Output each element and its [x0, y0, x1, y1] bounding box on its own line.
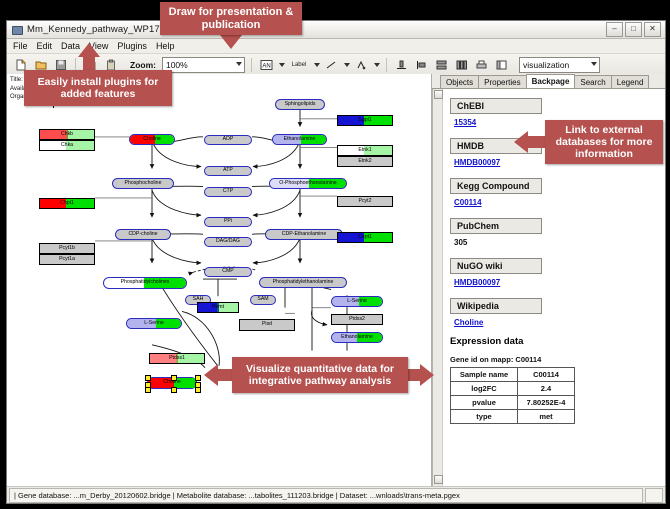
minimize-button[interactable]: – [606, 22, 623, 37]
node-label: Pcyt2 [359, 199, 372, 204]
metabolite-node-o-phosphoethanolamine[interactable]: O-Phosphoethanolamine [269, 178, 347, 189]
resize-handle[interactable] [171, 387, 177, 393]
gene-node-ptdss1[interactable]: Ptdss1 [149, 353, 205, 364]
menu-item-help[interactable]: Help [156, 41, 175, 51]
node-label: Chkb [61, 132, 73, 137]
label-dropdown-chevron-icon[interactable] [279, 63, 285, 67]
gene-node-chka[interactable]: Chka [39, 140, 95, 151]
metabolite-node-phosphocholine[interactable]: Phosphocholine [112, 178, 174, 189]
node-label: Phosphatidylethanolamine [273, 280, 334, 285]
tab-search[interactable]: Search [574, 75, 611, 88]
resize-handle[interactable] [195, 387, 201, 393]
gene-node-chpt1[interactable]: Chpt1 [39, 198, 95, 209]
node-label: Cept1 [358, 235, 372, 240]
node-label: CTP [223, 189, 233, 194]
metabolite-node-ctp[interactable]: CTP [204, 187, 252, 197]
db-link-nugo-wiki[interactable]: HMDB00097 [454, 278, 659, 287]
table-row: type met [451, 410, 575, 424]
expression-table: Sample name C00114 log2FC 2.4 pvalue 7.8… [450, 367, 575, 424]
cell-key: log2FC [451, 382, 518, 396]
visualization-value: visualization [523, 60, 569, 70]
scroll-down-button[interactable] [434, 475, 443, 484]
cell-key: Sample name [451, 368, 518, 382]
chevron-down-icon [236, 62, 242, 66]
menu-item-plugins[interactable]: Plugins [117, 41, 147, 51]
metabolite-node-l-serine[interactable]: L-Serine [331, 296, 383, 307]
zoom-label: Zoom: [130, 60, 156, 70]
pathvisio-icon [11, 24, 22, 35]
metabolite-node-sam[interactable]: SAM [250, 295, 276, 305]
window-controls[interactable]: – □ ✕ [606, 22, 661, 37]
node-label: Choline [143, 137, 161, 142]
status-resize-grip[interactable] [645, 488, 663, 503]
db-header-kegg-compound: Kegg Compound [450, 178, 542, 194]
node-label: Chka [61, 143, 73, 148]
gene-node-cept1[interactable]: Cept1 [337, 232, 393, 243]
metabolite-node-cdp-ethanolamine[interactable]: CDP-Ethanolamine [265, 229, 343, 240]
node-label: Pisd [262, 322, 272, 327]
gene-node-ptdss2[interactable]: Ptdss2 [331, 314, 383, 325]
scroll-up-button[interactable] [434, 90, 443, 99]
callout-links-arrow-icon [514, 131, 528, 153]
callout-visualize-arrow-right-icon [420, 364, 434, 386]
gene-node-chkb[interactable]: Chkb [39, 129, 95, 140]
db-value-pubchem: 305 [454, 238, 659, 247]
node-label: Ptdss2 [349, 317, 365, 322]
node-label: Pemt [212, 305, 224, 310]
shape-chevron-icon[interactable] [374, 63, 380, 67]
node-label: Ptdss1 [169, 356, 185, 361]
metabolite-node-cdp-choline[interactable]: CDP-choline [115, 229, 171, 240]
table-row: log2FC 2.4 [451, 382, 575, 396]
align-top-icon[interactable] [393, 56, 410, 73]
backpage-scrollbar[interactable] [433, 89, 443, 486]
status-bar: | Gene database: ...m_Derby_20120602.bri… [7, 486, 665, 503]
resize-handle[interactable] [195, 375, 201, 381]
metabolite-node-choline[interactable]: Choline [129, 134, 175, 145]
node-label: CMP [222, 269, 234, 274]
node-label: Choline [163, 380, 181, 385]
pathway-canvas[interactable]: Title: Availa Organi [7, 74, 432, 486]
cell-value: 7.80252E-4 [518, 396, 575, 410]
align-left-icon[interactable] [413, 56, 430, 73]
expression-data-heading: Expression data [450, 336, 659, 347]
visualization-chevron-down-icon [591, 62, 597, 66]
zoom-value: 100% [166, 60, 188, 70]
gene-node-pisd[interactable]: Pisd [239, 319, 295, 331]
node-label: Sgpl1 [358, 118, 371, 123]
cell-value: C00114 [518, 368, 575, 382]
metabolite-node-l-serine[interactable]: L-Serine [126, 318, 182, 329]
toolbar-separator-2 [251, 58, 252, 72]
db-header-wikipedia: Wikipedia [450, 298, 542, 314]
callout-draw: Draw for presentation & publication [160, 2, 302, 35]
label-tool[interactable]: Label [288, 56, 310, 73]
resize-handle[interactable] [145, 387, 151, 393]
node-label: L-Serine [347, 299, 367, 304]
side-panel-tabs[interactable]: Objects Properties Backpage Search Legen… [432, 74, 665, 89]
menu-item-edit[interactable]: Edit [37, 41, 53, 51]
gene-node-pcyt1a[interactable]: Pcyt1a [39, 254, 95, 265]
resize-handle[interactable] [171, 375, 177, 381]
callout-plugins: Easily install plugins for added feature… [24, 70, 172, 106]
visualization-combobox[interactable]: visualization [519, 57, 600, 73]
node-label: CDP-Ethanolamine [282, 232, 326, 237]
tab-properties[interactable]: Properties [478, 75, 526, 88]
gene-node-pcyt1b[interactable]: Pcyt1b [39, 243, 95, 254]
metabolite-node-ethanolamine[interactable]: Ethanolamine [272, 134, 327, 145]
callout-links: Link to external databases for more info… [545, 120, 663, 164]
node-label: O-Phosphoethanolamine [279, 181, 336, 186]
label-tool-text: Label [292, 62, 307, 68]
metabolite-node-dag-dag[interactable]: DAG/DAG [204, 237, 252, 247]
title-bar: Mm_Kennedy_pathway_WP1771_45176.gpml – □… [7, 21, 665, 39]
node-label: Pcyt1b [59, 246, 75, 251]
tab-backpage[interactable]: Backpage [526, 74, 576, 88]
db-link-kegg-compound[interactable]: C00114 [454, 198, 659, 207]
node-label: CDP-choline [128, 232, 157, 237]
node-label: SAH [193, 297, 204, 302]
maximize-button[interactable]: □ [625, 22, 642, 37]
cell-value: met [518, 410, 575, 424]
metabolite-node-adp[interactable]: ADP [204, 135, 252, 145]
node-label: Etnk1 [358, 148, 371, 153]
zoom-combobox[interactable]: 100% [162, 57, 245, 73]
callout-draw-arrow-icon [220, 35, 242, 49]
cell-value: 2.4 [518, 382, 575, 396]
node-label: Phosphocholine [125, 181, 162, 186]
db-header-pubchem: PubChem [450, 218, 542, 234]
node-label: Pcyt1a [59, 257, 75, 262]
tab-objects[interactable]: Objects [440, 75, 479, 88]
pathway-drawing-area[interactable]: Title: Availa Organi [7, 74, 431, 486]
line-chevron-icon[interactable] [344, 63, 350, 67]
node-label: Ethanolamine [341, 335, 373, 340]
metabolite-node-sphingolipids[interactable]: Sphingolipids [275, 99, 325, 110]
node-label: Sphingolipids [285, 102, 316, 107]
callout-plugins-arrow-icon [78, 43, 100, 57]
table-row: Sample name C00114 [451, 368, 575, 382]
node-label: PPi [224, 219, 232, 224]
menu-bar[interactable]: File Edit Data View Plugins Help [7, 39, 665, 54]
gene-node-etnk2[interactable]: Etnk2 [337, 156, 393, 167]
cell-key: type [451, 410, 518, 424]
node-label: ADP [223, 137, 234, 142]
layout-icon[interactable] [493, 56, 510, 73]
gene-node-sgpl1[interactable]: Sgpl1 [337, 115, 393, 126]
close-button[interactable]: ✕ [644, 22, 661, 37]
db-header-nugo-wiki: NuGO wiki [450, 258, 542, 274]
callout-visualize-arrow-left-icon [204, 364, 218, 386]
stack-icon[interactable] [433, 56, 450, 73]
shape-icon[interactable] [353, 56, 370, 73]
metabolite-node-choline[interactable]: Choline [147, 377, 197, 389]
metabolite-node-ppi[interactable]: PPi [204, 217, 252, 227]
svg-text:AN: AN [262, 63, 270, 69]
callout-visualize: Visualize quantitative data for integrat… [232, 357, 408, 393]
node-label: Chpt1 [60, 201, 74, 206]
gene-node-pcyt2[interactable]: Pcyt2 [337, 196, 393, 207]
print-icon[interactable] [473, 56, 490, 73]
node-label: SAM [257, 297, 268, 302]
db-link-wikipedia[interactable]: Choline [454, 318, 659, 327]
gene-node-pemt[interactable]: Pemt [197, 302, 239, 313]
menu-item-file[interactable]: File [13, 41, 28, 51]
metabolite-node-atp[interactable]: ATP [204, 166, 252, 176]
metabolite-node-phosphatidylethanolamine[interactable]: Phosphatidylethanolamine [259, 277, 347, 288]
distribute-icon[interactable] [453, 56, 470, 73]
db-header-chebi: ChEBI [450, 98, 542, 114]
resize-handle[interactable] [145, 375, 151, 381]
status-text: | Gene database: ...m_Derby_20120602.bri… [9, 488, 643, 503]
label-tool-chevron-icon[interactable] [314, 63, 320, 67]
line-icon[interactable] [323, 56, 340, 73]
node-label: Ethanolamine [284, 137, 316, 142]
cell-key: pvalue [451, 396, 518, 410]
metabolite-node-ethanolamine[interactable]: Ethanolamine [331, 332, 383, 343]
node-label: Phosphatidylcholines [121, 280, 170, 285]
text-label-icon[interactable]: AN [258, 56, 275, 73]
node-label: Etnk2 [358, 159, 371, 164]
gene-id-line: Gene id on mapp: C00114 [450, 355, 659, 364]
metabolite-node-cmp[interactable]: CMP [204, 267, 252, 277]
node-label: L-Serine [144, 321, 164, 326]
tab-legend[interactable]: Legend [611, 75, 650, 88]
toolbar-separator-3 [386, 58, 387, 72]
node-label: ATP [223, 168, 233, 173]
gene-node-etnk1[interactable]: Etnk1 [337, 145, 393, 156]
node-label: DAG/DAG [216, 239, 240, 244]
metabolite-node-phosphatidylcholines[interactable]: Phosphatidylcholines [103, 277, 187, 289]
table-row: pvalue 7.80252E-4 [451, 396, 575, 410]
